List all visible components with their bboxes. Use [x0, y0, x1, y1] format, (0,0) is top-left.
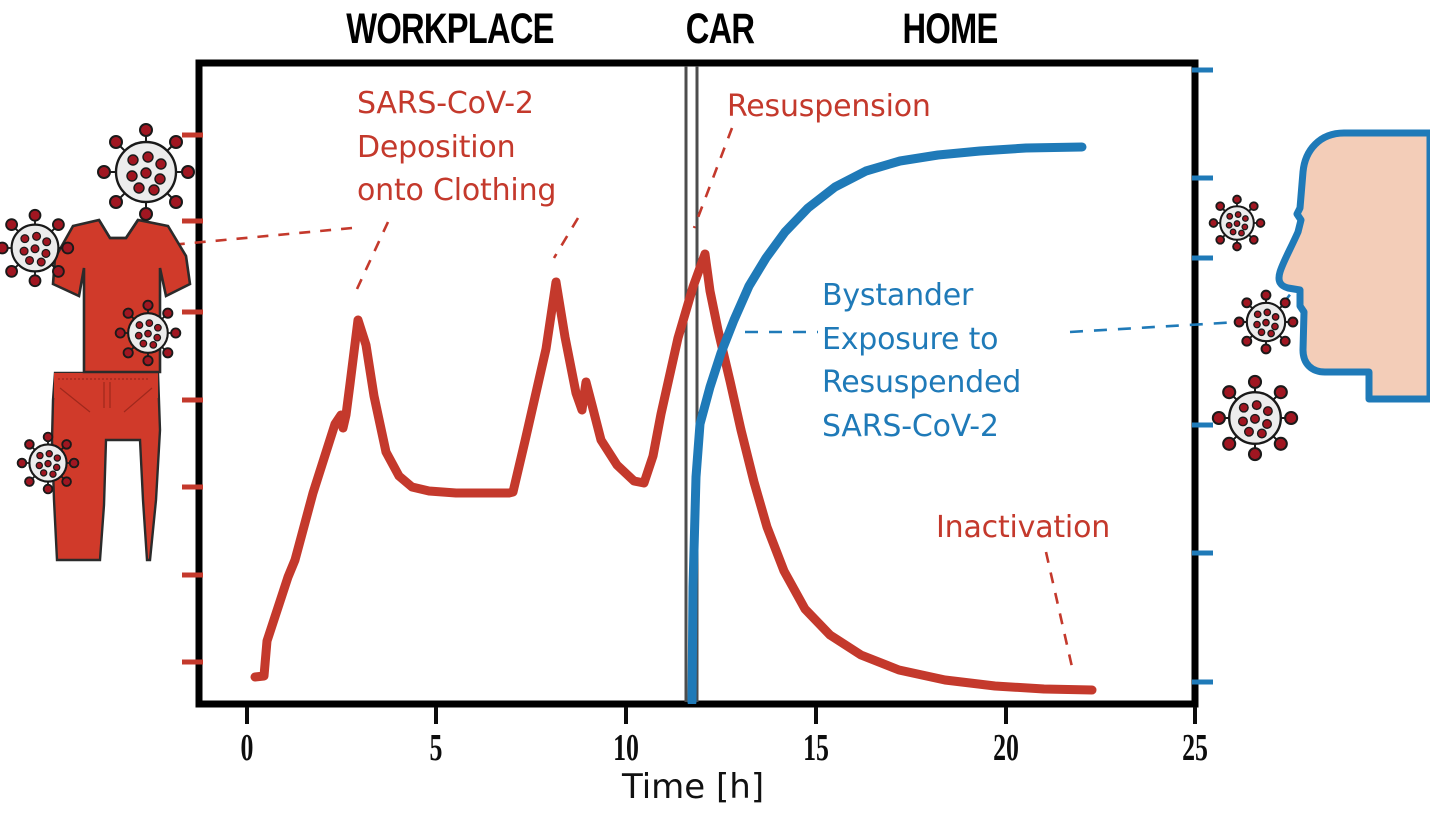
x-tick-label-15: 15	[789, 726, 843, 770]
clothing-illustration	[0, 124, 194, 560]
x-axis-title: Time [h]	[622, 767, 764, 807]
virus-particle	[1210, 196, 1265, 251]
x-tick-label-5: 5	[409, 726, 463, 770]
figure-canvas: WORKPLACE CAR HOME	[0, 0, 1430, 818]
x-axis-ticks	[247, 707, 1195, 724]
annotation-bystander-exposure: Bystander Exposure to Resuspended SARS-C…	[822, 274, 1122, 448]
pants-waist	[54, 373, 158, 398]
virus-particle	[1235, 291, 1298, 354]
virus-particle	[0, 210, 73, 286]
pants-shape	[52, 373, 160, 560]
head-illustration	[1210, 133, 1430, 460]
virus-particle	[98, 124, 194, 220]
x-tick-label-25: 25	[1168, 726, 1222, 770]
x-tick-label-10: 10	[599, 726, 653, 770]
x-tick-label-20: 20	[979, 726, 1033, 770]
x-tick-label-0: 0	[220, 726, 274, 770]
virus-particle	[18, 433, 79, 494]
annotation-resuspension: Resuspension	[727, 85, 1027, 129]
annotation-deposition: SARS-CoV-2 Deposition onto Clothing	[357, 82, 657, 213]
plot-svg	[0, 0, 1430, 818]
virus-particle	[1213, 376, 1297, 460]
head-profile-shape	[1279, 133, 1430, 399]
virus-particle	[116, 301, 181, 366]
annotation-inactivation: Inactivation	[936, 506, 1236, 550]
